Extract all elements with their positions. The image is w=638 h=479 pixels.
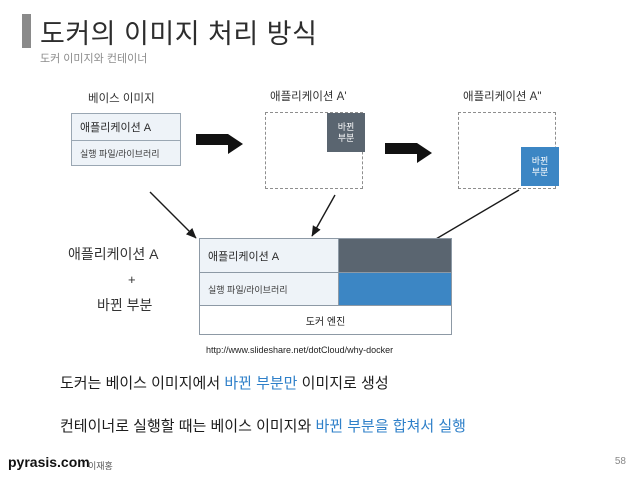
note-1-highlight: 바뀐 부분만 xyxy=(224,375,297,392)
note-1-part-2: 이미지로 생성 xyxy=(297,375,388,392)
footer-logo: pyrasis.com xyxy=(8,454,90,470)
source-url: http://www.slideshare.net/dotCloud/why-d… xyxy=(206,345,393,355)
base-image-app-row: 애플리케이션 A xyxy=(72,114,180,141)
combo-changed-blue-block xyxy=(339,273,451,306)
changed-part-chip-double-prime: 바뀐 부분 xyxy=(521,147,559,186)
combo-plus-label: + xyxy=(128,272,136,287)
footer-author: 이재홍 xyxy=(88,459,113,472)
chip-dprime-line1: 바뀐 xyxy=(532,156,549,167)
label-base-image: 베이스 이미지 xyxy=(88,90,155,106)
base-image-box: 애플리케이션 A 실행 파일/라이브러리 xyxy=(71,113,181,166)
note-line-1: 도커는 베이스 이미지에서 바뀐 부분만 이미지로 생성 xyxy=(60,372,389,393)
changed-part-chip-prime: 바뀐 부분 xyxy=(327,113,365,152)
chip-prime-line2: 부분 xyxy=(338,133,355,144)
note-1-part-1: 도커는 베이스 이미지에서 xyxy=(60,375,224,392)
note-2-part-1: 컨테이너로 실행할 때는 베이스 이미지와 xyxy=(60,418,315,435)
label-app-a-prime: 애플리케이션 A' xyxy=(270,88,347,104)
page-title: 도커의 이미지 처리 방식 xyxy=(40,12,317,51)
title-accent-bar xyxy=(22,14,31,48)
combo-title-label: 애플리케이션 A xyxy=(68,244,159,264)
note-line-2: 컨테이너로 실행할 때는 베이스 이미지와 바뀐 부분을 합쳐서 실행 xyxy=(60,415,466,436)
combo-libs-row: 실행 파일/라이브러리 xyxy=(200,273,339,306)
page-number: 58 xyxy=(615,456,626,467)
docker-engine-row: 도커 엔진 xyxy=(200,306,451,334)
combined-image-diagram: 애플리케이션 A 실행 파일/라이브러리 도커 엔진 xyxy=(199,238,452,335)
chip-dprime-line2: 부분 xyxy=(532,167,549,178)
page-subtitle: 도커 이미지와 컨테이너 xyxy=(40,50,147,66)
chip-prime-line1: 바뀐 xyxy=(338,122,355,133)
combo-app-row: 애플리케이션 A xyxy=(200,239,339,273)
slide-root: 도커의 이미지 처리 방식 도커 이미지와 컨테이너 베이스 이미지 애플리케이… xyxy=(0,0,638,479)
combo-changed-dark-block xyxy=(339,239,451,273)
label-app-a-double-prime: 애플리케이션 A" xyxy=(463,88,541,104)
note-2-highlight: 바뀐 부분을 합쳐서 실행 xyxy=(315,418,466,435)
combo-sub-label: 바뀐 부분 xyxy=(97,295,152,315)
base-image-libs-row: 실행 파일/라이브러리 xyxy=(72,141,180,166)
